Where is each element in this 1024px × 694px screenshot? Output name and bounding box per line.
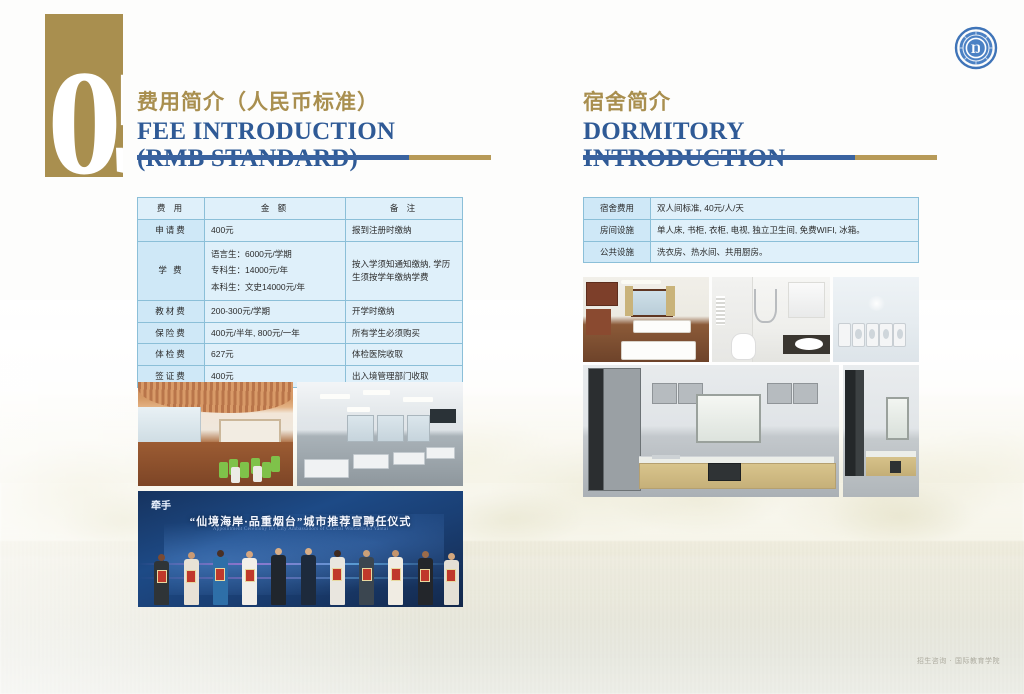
fee-row-note: 按入学须知通知缴纳, 学历生须按学年缴纳学费 bbox=[346, 241, 463, 300]
rule-gold-segment bbox=[409, 155, 491, 160]
ceremony-person bbox=[301, 548, 316, 605]
dormitory-heading-en-line1: DORMITORY bbox=[583, 118, 785, 145]
dormitory-heading-rule bbox=[583, 155, 937, 160]
fee-table-header-row: 费 用 金 额 备 注 bbox=[138, 198, 463, 220]
fee-row-label: 教材费 bbox=[138, 300, 205, 322]
photo-bathroom bbox=[712, 277, 830, 362]
page-number-block bbox=[45, 14, 123, 177]
dormitory-row-value: 单人床, 书柜, 衣柜, 电视, 独立卫生间, 免费WIFI, 冰箱。 bbox=[651, 219, 919, 241]
table-row: 学 费语言生：6000元/学期专科生：14000元/年本科生：文史14000元/… bbox=[138, 241, 463, 300]
fee-row-note: 体检医院收取 bbox=[346, 344, 463, 366]
dormitory-row-label: 公共设施 bbox=[584, 241, 651, 263]
photo-shared-kitchen bbox=[583, 365, 839, 497]
fee-row-label: 申请费 bbox=[138, 219, 205, 241]
brochure-page: 招生咨询 · 国际教育学院 05 Ŋ 费用简介（人民币标准） bbox=[0, 0, 1024, 694]
ceremony-subtitle: Appointment Ceremony for City Ambassador… bbox=[138, 527, 463, 532]
fee-col-header-1: 金 额 bbox=[205, 198, 346, 220]
fee-table: 费 用 金 额 备 注 申请费400元报到注册时缴纳学 费语言生：6000元/学… bbox=[137, 197, 463, 388]
ceremony-person bbox=[444, 553, 459, 605]
fee-row-amount: 627元 bbox=[205, 344, 346, 366]
table-row: 体检费627元体检医院收取 bbox=[138, 344, 463, 366]
fee-col-header-0: 费 用 bbox=[138, 198, 205, 220]
ceremony-person bbox=[271, 548, 286, 605]
photo-lecture-hall bbox=[138, 382, 293, 486]
ceremony-person bbox=[184, 552, 199, 605]
table-row: 宿舍费用双人间标准, 40元/人/天 bbox=[584, 198, 919, 220]
table-row: 房间设施单人床, 书柜, 衣柜, 电视, 独立卫生间, 免费WIFI, 冰箱。 bbox=[584, 219, 919, 241]
ceremony-person bbox=[213, 550, 228, 605]
svg-text:Ŋ: Ŋ bbox=[971, 41, 981, 56]
table-row: 申请费400元报到注册时缴纳 bbox=[138, 219, 463, 241]
ceremony-person bbox=[154, 554, 169, 605]
photo-laundry-room bbox=[833, 277, 919, 362]
photo-ceremony: 牵手 “仙境海岸·品重烟台”城市推荐官聘任仪式 Appointment Cere… bbox=[138, 491, 463, 607]
dormitory-row-value: 双人间标准, 40元/人/天 bbox=[651, 198, 919, 220]
dormitory-row-label: 房间设施 bbox=[584, 219, 651, 241]
fee-row-label: 体检费 bbox=[138, 344, 205, 366]
ceremony-person bbox=[242, 551, 257, 605]
photo-dorm-room bbox=[583, 277, 709, 362]
fee-row-label: 保险费 bbox=[138, 322, 205, 344]
rule-gold-segment bbox=[855, 155, 937, 160]
table-row: 公共设施洗衣房、热水间、共用厨房。 bbox=[584, 241, 919, 263]
fee-heading-cn: 费用简介（人民币标准） bbox=[137, 86, 395, 116]
fee-row-note: 开学时缴纳 bbox=[346, 300, 463, 322]
fee-row-amount: 400元 bbox=[205, 219, 346, 241]
university-logo: Ŋ bbox=[954, 26, 998, 70]
fee-row-amount: 语言生：6000元/学期专科生：14000元/年本科生：文史14000元/年 bbox=[205, 241, 346, 300]
dormitory-table-body: 宿舍费用双人间标准, 40元/人/天房间设施单人床, 书柜, 衣柜, 电视, 独… bbox=[584, 198, 919, 263]
fee-row-amount: 400元/半年, 800元/一年 bbox=[205, 322, 346, 344]
ceremony-person bbox=[330, 550, 345, 605]
photo-kitchen-corridor bbox=[843, 365, 919, 497]
rule-blue-segment bbox=[137, 155, 409, 160]
ceremony-person bbox=[359, 550, 374, 605]
ceremony-person bbox=[388, 550, 403, 605]
fee-row-amount: 200-300元/学期 bbox=[205, 300, 346, 322]
dormitory-table: 宿舍费用双人间标准, 40元/人/天房间设施单人床, 书柜, 衣柜, 电视, 独… bbox=[583, 197, 919, 263]
fee-row-note: 所有学生必须购买 bbox=[346, 322, 463, 344]
fee-row-label: 学 费 bbox=[138, 241, 205, 300]
fee-heading-rule bbox=[137, 155, 491, 160]
rule-blue-segment bbox=[583, 155, 855, 160]
table-row: 教材费200-300元/学期开学时缴纳 bbox=[138, 300, 463, 322]
ceremony-banner-logo: 牵手 bbox=[151, 497, 171, 512]
dormitory-row-label: 宿舍费用 bbox=[584, 198, 651, 220]
dormitory-row-value: 洗衣房、热水间、共用厨房。 bbox=[651, 241, 919, 263]
ceremony-person bbox=[418, 551, 433, 605]
fee-heading-en-line1: FEE INTRODUCTION bbox=[137, 118, 395, 145]
photo-laboratory-classroom bbox=[297, 382, 463, 486]
fee-col-header-2: 备 注 bbox=[346, 198, 463, 220]
fee-row-note: 报到注册时缴纳 bbox=[346, 219, 463, 241]
dormitory-heading-cn: 宿舍简介 bbox=[583, 86, 785, 116]
fee-table-body: 申请费400元报到注册时缴纳学 费语言生：6000元/学期专科生：14000元/… bbox=[138, 219, 463, 387]
table-row: 保险费400元/半年, 800元/一年所有学生必须购买 bbox=[138, 322, 463, 344]
footer-faint-text: 招生咨询 · 国际教育学院 bbox=[917, 656, 1000, 666]
